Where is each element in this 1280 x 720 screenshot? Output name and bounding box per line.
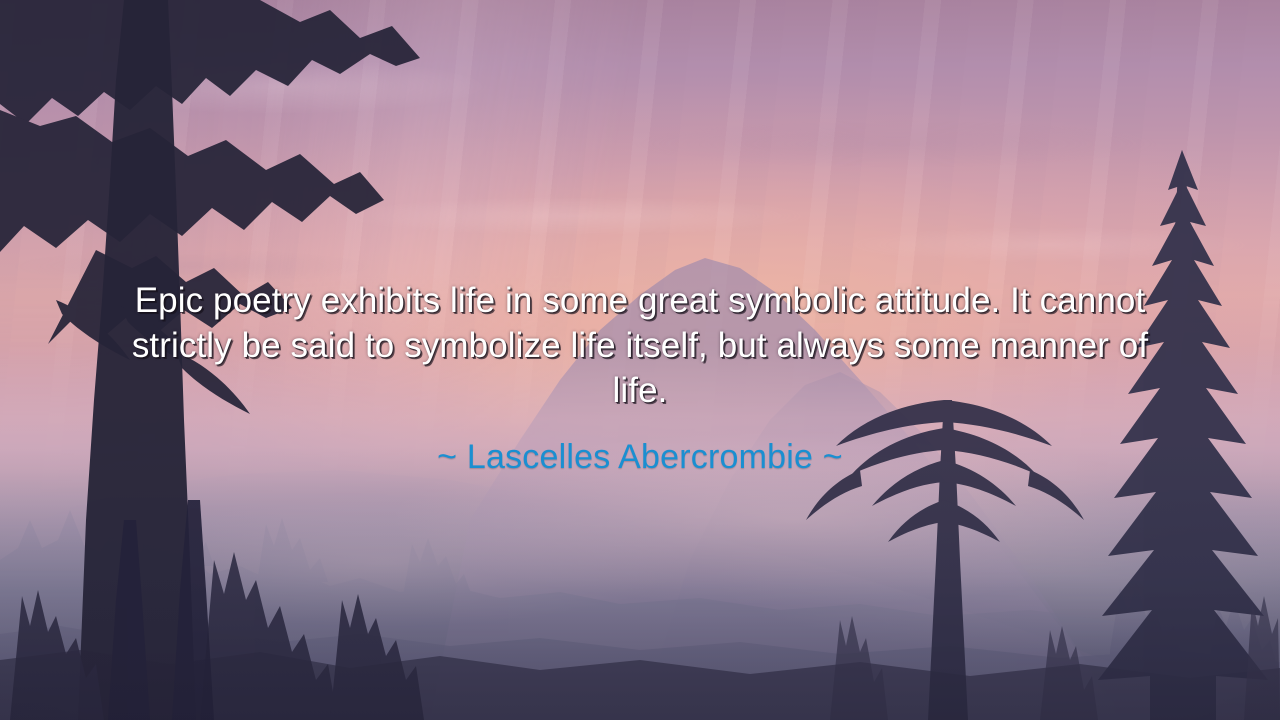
quote-overlay: Epic poetry exhibits life in some great … [0, 278, 1280, 477]
quote-text: Epic poetry exhibits life in some great … [116, 278, 1164, 413]
quote-attribution: ~ Lascelles Abercrombie ~ [56, 437, 1224, 477]
quote-image-canvas: Epic poetry exhibits life in some great … [0, 0, 1280, 720]
